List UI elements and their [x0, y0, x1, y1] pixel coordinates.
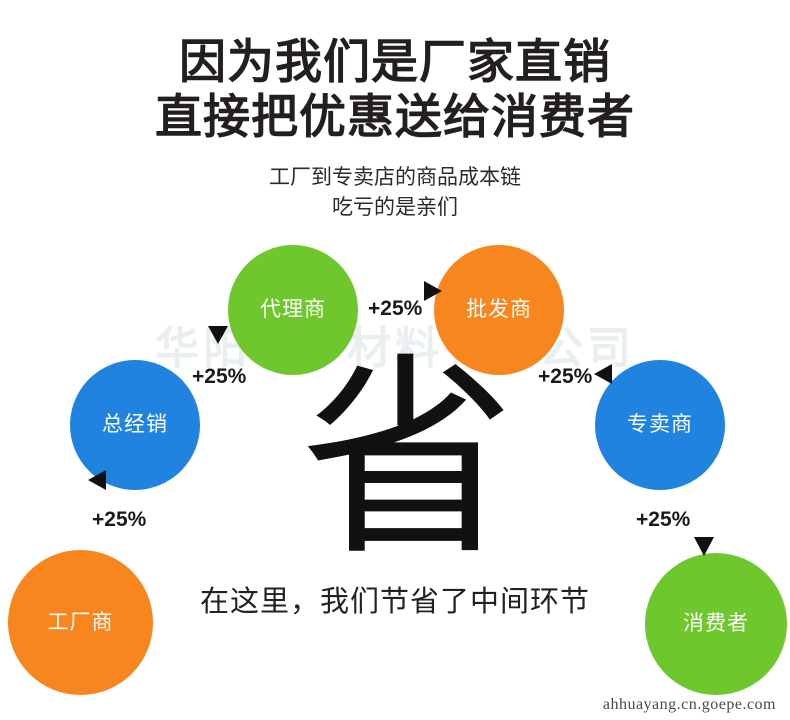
savings-glyph: 省: [300, 352, 500, 567]
node-exclusive-shop: 专卖商: [595, 360, 725, 490]
tagline: 在这里，我们节省了中间环节: [150, 578, 640, 620]
markup-label-exclusive-to-consumer: +25%: [636, 508, 690, 532]
subtitle: 工厂到专卖店的商品成本链 吃亏的是亲们: [0, 163, 790, 223]
headline-line-1: 因为我们是厂家直销: [179, 35, 611, 88]
node-exclusive-shop-label: 专卖商: [627, 408, 693, 438]
subtitle-line-2: 吃亏的是亲们: [0, 193, 790, 223]
node-consumer-label: 消费者: [683, 607, 749, 637]
node-wholesaler: 批发商: [434, 245, 564, 375]
node-factory-label: 工厂商: [48, 606, 114, 636]
markup-label-general-to-agent: +25%: [192, 365, 246, 389]
subtitle-line-1: 工厂到专卖店的商品成本链: [0, 163, 790, 193]
headline-line-2: 直接把优惠送给消费者: [0, 89, 790, 144]
node-general-distributor-label: 总经销: [102, 408, 168, 438]
footer-site-url: ahhuayang.cn.goepe.com: [603, 696, 776, 714]
node-agent-label: 代理商: [260, 293, 326, 323]
node-factory: 工厂商: [8, 550, 153, 695]
markup-label-factory-to-general: +25%: [92, 508, 146, 532]
arrow-left-icon-exclusive: [594, 364, 612, 384]
markup-label-wholesale-to-exclusive: +25%: [538, 365, 592, 389]
arrow-down-icon-general: [208, 326, 228, 344]
arrow-down-icon-consumer: [694, 537, 714, 556]
page-title: 因为我们是厂家直销 直接把优惠送给消费者: [0, 34, 790, 145]
markup-label-agent-to-wholesale: +25%: [368, 297, 422, 321]
arrow-right-icon-wholesale: [424, 281, 442, 301]
arrow-left-icon-factory: [88, 470, 106, 490]
node-agent: 代理商: [228, 245, 358, 375]
poster-canvas: 因为我们是厂家直销 直接把优惠送给消费者 工厂到专卖店的商品成本链 吃亏的是亲们…: [0, 0, 790, 720]
node-consumer: 消费者: [645, 553, 787, 695]
node-wholesaler-label: 批发商: [466, 293, 532, 323]
